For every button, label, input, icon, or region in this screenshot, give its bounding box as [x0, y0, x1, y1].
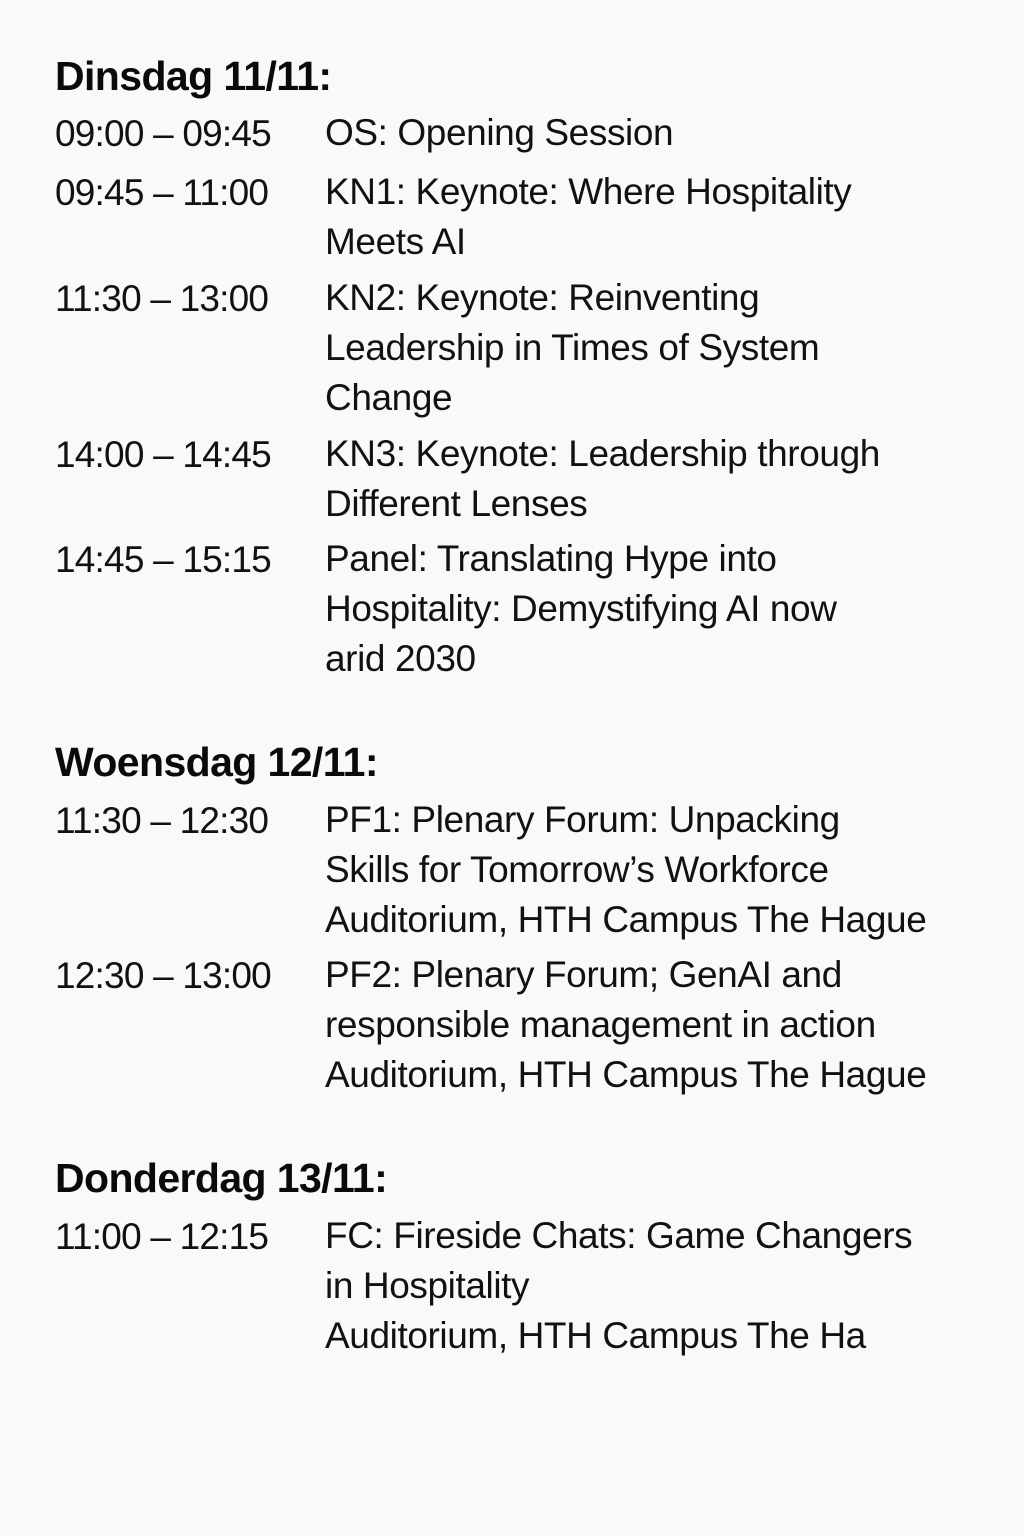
session-detail-line: Different Lenses — [325, 479, 980, 529]
session-row[interactable]: 11:00 – 12:15FC: Fireside Chats: Game Ch… — [55, 1211, 980, 1361]
session-list: 11:00 – 12:15FC: Fireside Chats: Game Ch… — [55, 1211, 980, 1361]
session-detail-line: OS: Opening Session — [325, 108, 980, 158]
session-detail-line: Panel: Translating Hype into — [325, 534, 980, 584]
session-detail: Panel: Translating Hype intoHospitality:… — [325, 534, 980, 684]
session-detail-line: Auditorium, HTH Campus The Hague — [325, 1050, 980, 1100]
session-row[interactable]: 11:30 – 12:30PF1: Plenary Forum: Unpacki… — [55, 795, 980, 945]
session-detail: PF2: Plenary Forum; GenAI andresponsible… — [325, 950, 980, 1100]
session-detail-line: Auditorium, HTH Campus The Hague — [325, 895, 980, 945]
session-detail-line: FC: Fireside Chats: Game Changers — [325, 1211, 980, 1261]
session-detail-line: Skills for Tomorrow’s Workforce — [325, 845, 980, 895]
session-detail: KN2: Keynote: ReinventingLeadership in T… — [325, 273, 980, 423]
session-detail: KN3: Keynote: Leadership throughDifferen… — [325, 429, 980, 529]
session-time: 14:45 – 15:15 — [55, 534, 325, 587]
day-block: Woensdag 12/11:11:30 – 12:30PF1: Plenary… — [55, 738, 980, 1100]
session-time: 09:00 – 09:45 — [55, 108, 325, 161]
session-detail-line: KN1: Keynote: Where Hospitality — [325, 167, 980, 217]
session-time: 12:30 – 13:00 — [55, 950, 325, 1003]
session-row[interactable]: 12:30 – 13:00PF2: Plenary Forum; GenAI a… — [55, 950, 980, 1100]
day-heading: Woensdag 12/11: — [55, 738, 980, 786]
session-time: 11:00 – 12:15 — [55, 1211, 325, 1264]
session-detail: PF1: Plenary Forum: UnpackingSkills for … — [325, 795, 980, 945]
session-time: 11:30 – 13:00 — [55, 273, 325, 326]
day-heading: Dinsdag 11/11: — [55, 52, 980, 100]
session-list: 11:30 – 12:30PF1: Plenary Forum: Unpacki… — [55, 795, 980, 1101]
session-detail-line: KN3: Keynote: Leadership through — [325, 429, 980, 479]
schedule-page: Dinsdag 11/11:09:00 – 09:45OS: Opening S… — [0, 0, 1024, 1536]
session-detail-line: Meets AI — [325, 217, 980, 267]
session-row[interactable]: 14:45 – 15:15Panel: Translating Hype int… — [55, 534, 980, 684]
session-row[interactable]: 14:00 – 14:45KN3: Keynote: Leadership th… — [55, 429, 980, 529]
session-time: 09:45 – 11:00 — [55, 167, 325, 220]
session-detail-line: KN2: Keynote: Reinventing — [325, 273, 980, 323]
session-detail-line: Leadership in Times of System — [325, 323, 980, 373]
session-detail: FC: Fireside Chats: Game Changersin Hosp… — [325, 1211, 980, 1361]
session-detail-line: Auditorium, HTH Campus The Ha — [325, 1311, 980, 1361]
session-detail-line: in Hospitality — [325, 1261, 980, 1311]
day-block: Dinsdag 11/11:09:00 – 09:45OS: Opening S… — [55, 52, 980, 684]
session-list: 09:00 – 09:45OS: Opening Session09:45 – … — [55, 108, 980, 684]
session-detail-line: responsible management in action — [325, 1000, 980, 1050]
session-row[interactable]: 09:00 – 09:45OS: Opening Session — [55, 108, 980, 161]
session-detail-line: arid 2030 — [325, 634, 980, 684]
day-block: Donderdag 13/11:11:00 – 12:15FC: Firesid… — [55, 1154, 980, 1360]
day-heading: Donderdag 13/11: — [55, 1154, 980, 1202]
session-time: 14:00 – 14:45 — [55, 429, 325, 482]
session-row[interactable]: 11:30 – 13:00KN2: Keynote: ReinventingLe… — [55, 273, 980, 423]
session-detail-line: Change — [325, 373, 980, 423]
session-detail-line: PF2: Plenary Forum; GenAI and — [325, 950, 980, 1000]
session-row[interactable]: 09:45 – 11:00KN1: Keynote: Where Hospita… — [55, 167, 980, 267]
session-detail: KN1: Keynote: Where HospitalityMeets AI — [325, 167, 980, 267]
session-time: 11:30 – 12:30 — [55, 795, 325, 848]
session-detail-line: Hospitality: Demystifying AI now — [325, 584, 980, 634]
session-detail-line: PF1: Plenary Forum: Unpacking — [325, 795, 980, 845]
session-detail: OS: Opening Session — [325, 108, 980, 158]
